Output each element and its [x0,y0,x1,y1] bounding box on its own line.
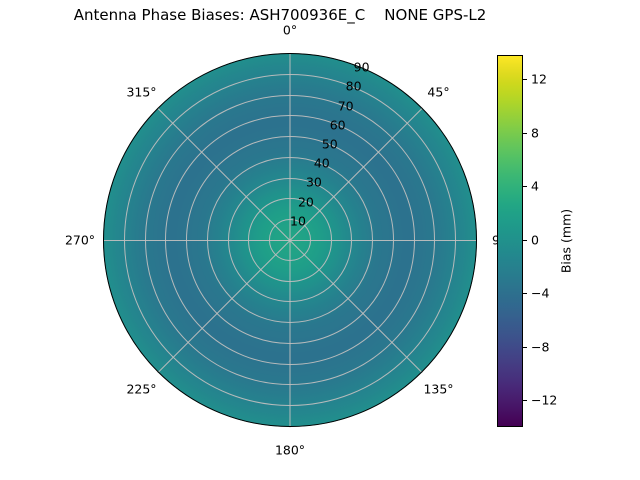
azimuth-tick-label-135: 135° [423,381,453,396]
figure-canvas: Antenna Phase Biases: ASH700936E_C NONE … [0,0,640,480]
radial-tick-label-80: 80 [346,79,362,94]
radial-tick-label-10: 10 [290,213,306,228]
colorbar-tick-label: 4 [531,179,539,194]
polar-plot-area [103,53,477,427]
colorbar-tick [523,240,527,241]
colorbar-tick [523,79,527,80]
colorbar-tick-label: 8 [531,125,539,140]
colorbar-tick-label: −12 [531,393,557,408]
azimuth-tick-label-315: 315° [126,84,156,99]
radial-tick-label-50: 50 [322,137,338,152]
azimuth-tick-label-270: 270° [65,233,95,248]
azimuth-tick-label-180: 180° [275,443,305,458]
colorbar-tick [523,400,527,401]
colorbar-tick-label: 0 [531,232,539,247]
azimuth-tick-label-0: 0° [283,23,297,38]
radial-tick-label-70: 70 [338,98,354,113]
colorbar-tick [523,133,527,134]
radial-tick-label-30: 30 [306,175,322,190]
radial-tick-label-20: 20 [298,194,314,209]
colorbar-gradient [497,55,523,427]
polar-axes[interactable]: 102030405060708090 [103,53,477,427]
azimuth-tick-label-225: 225° [126,381,156,396]
radial-tick-label-60: 60 [330,117,346,132]
radial-tick-label-90: 90 [354,60,370,75]
colorbar-tick [523,293,527,294]
colorbar-tick-label: −8 [531,339,549,354]
azimuth-tick-label-45: 45° [427,84,449,99]
bias-field-heatmap [103,53,477,427]
colorbar-tick [523,347,527,348]
colorbar-axis-label: Bias (mm) [559,209,574,273]
colorbar-tick [523,186,527,187]
colorbar-tick-label: −4 [531,286,549,301]
colorbar[interactable]: −12−8−404812 [497,55,523,427]
radial-tick-label-40: 40 [314,156,330,171]
colorbar-tick-label: 12 [531,72,547,87]
page-title: Antenna Phase Biases: ASH700936E_C NONE … [0,6,560,24]
